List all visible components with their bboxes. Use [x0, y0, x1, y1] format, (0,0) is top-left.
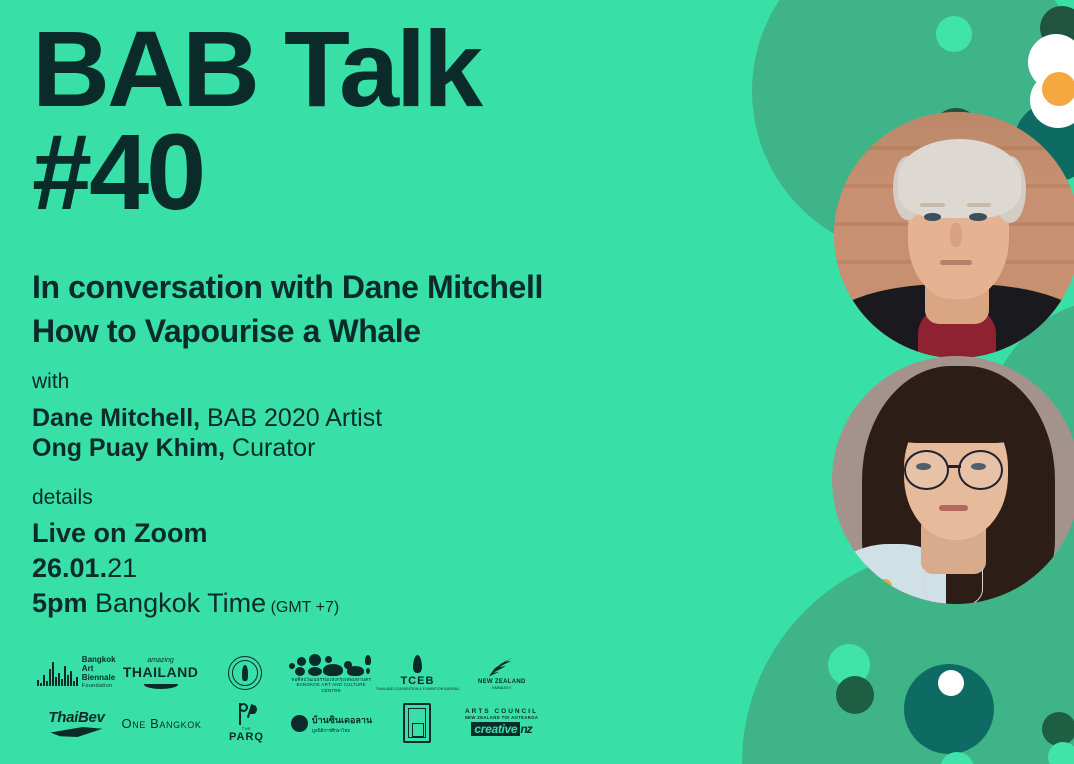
portrait-floral-motif — [877, 579, 892, 594]
decorative-circle-orange — [1042, 72, 1074, 106]
subtitle-line-2: How to Vapourise a Whale — [32, 309, 543, 353]
silver-fern-icon — [489, 657, 515, 677]
sponsor-logos: Bangkok Art Biennale Foundation amazing … — [34, 648, 544, 748]
circular-mark-icon — [291, 715, 308, 732]
logo-line: ARTS COUNCIL — [465, 708, 539, 715]
logo-line: BANGKOK ART AND CULTURE CENTRE — [287, 682, 375, 693]
logo-bangkok-art-and-culture-centre: หอศิลปวัฒนธรรมแห่งกรุงเทพมหานคร BANGKOK … — [287, 649, 375, 697]
logo-line: creative — [471, 722, 520, 736]
speaker-name: Ong Puay Khim, — [32, 434, 225, 462]
decorative-circle-darkgreen-corner-bottom — [1042, 712, 1074, 746]
logo-line: PARQ — [229, 731, 264, 743]
wave-icon — [50, 727, 102, 737]
logo-new-zealand-embassy: NEW ZEALAND EMBASSY — [460, 649, 544, 697]
page-title: BAB Talk #40 — [32, 18, 480, 223]
decorative-circle-mint-corner-bottom — [1048, 742, 1074, 764]
logo-baan-somdej-thai: บ้านซินเดอลาน มูลนิธิการศึกษาไทย — [289, 699, 374, 747]
detail-date-day-month: 26.01. — [32, 553, 107, 583]
portrait-hair-top — [898, 139, 1021, 218]
portrait-mouth — [939, 505, 969, 511]
detail-time: 5pm Bangkok Time (GMT +7) — [32, 586, 339, 621]
decorative-circle-darkgreen-bottom — [836, 676, 874, 714]
portrait-ong-puay-khim — [832, 356, 1074, 604]
portrait-necklace — [924, 569, 984, 604]
thai-door-icon — [403, 703, 431, 743]
portrait-eyebrow-right — [967, 203, 992, 207]
logo-line: THAILAND CONVENTION & EXHIBITION BUREAU — [376, 687, 459, 692]
logo-the-parq: THE PARQ — [204, 699, 289, 747]
bacc-dots-icon — [287, 653, 375, 677]
details-label: details — [32, 486, 93, 510]
logo-seal-emblem — [203, 649, 287, 697]
logo-bangkok-art-biennale-foundation: Bangkok Art Biennale Foundation — [34, 649, 118, 697]
logo-line: amazing — [123, 657, 199, 664]
logo-line: One Bangkok — [121, 716, 201, 731]
portrait-dane-mitchell — [834, 112, 1074, 358]
logo-line: nz — [520, 722, 531, 736]
parq-leaf-icon — [237, 703, 257, 725]
portrait-eye-right — [969, 213, 986, 221]
speaker-role: Curator — [225, 434, 315, 462]
logo-one-bangkok: One Bangkok — [119, 699, 204, 747]
logo-line: มูลนิธิการศึกษาไทย — [312, 727, 372, 734]
logo-thai-door-motif — [374, 699, 459, 747]
logo-creative-nz-arts-council: ARTS COUNCIL NEW ZEALAND TOI AOTEAROA cr… — [459, 699, 544, 747]
logo-thaibev: ThaiBev — [34, 699, 119, 747]
poster-subtitle: In conversation with Dane Mitchell How t… — [32, 265, 543, 353]
glasses-lens-left — [904, 450, 949, 490]
sponsor-logo-row-1: Bangkok Art Biennale Foundation amazing … — [34, 648, 544, 698]
logo-line: Foundation — [82, 683, 116, 689]
portrait-mouth — [940, 260, 972, 265]
details-block: Live on Zoom 26.01.21 5pm Bangkok Time (… — [32, 516, 339, 621]
bab-talk-poster: BAB Talk #40 In conversation with Dane M… — [0, 0, 1074, 764]
portrait-hair-fringe — [894, 388, 1018, 443]
logo-tceb: TCEB THAILAND CONVENTION & EXHIBITION BU… — [375, 649, 459, 697]
speakers-list: Dane Mitchell, BAB 2020 Artist Ong Puay … — [32, 403, 382, 463]
flame-icon — [413, 655, 422, 673]
detail-date: 26.01.21 — [32, 551, 339, 586]
detail-timezone-offset: (GMT +7) — [266, 599, 339, 616]
glasses-lens-right — [958, 450, 1003, 490]
glasses-bridge — [947, 465, 961, 468]
speaker-role: BAB 2020 Artist — [200, 404, 382, 432]
detail-timezone: Bangkok Time — [88, 588, 267, 618]
portrait-eyebrow-left — [920, 203, 945, 207]
decorative-circle-white-bottom — [938, 670, 964, 696]
logo-line: บ้านซินเดอลาน — [312, 713, 372, 727]
portrait-floral-motif — [852, 564, 869, 581]
logo-line: TCEB — [376, 675, 459, 687]
sponsor-logo-row-2: ThaiBev One Bangkok THE PARQ — [34, 698, 544, 748]
decorative-circle-mint-top — [936, 16, 972, 52]
bangkok-skyline-icon — [37, 660, 78, 686]
logo-line: EMBASSY — [478, 685, 526, 690]
speaker-row: Dane Mitchell, BAB 2020 Artist — [32, 403, 382, 433]
detail-date-year: 21 — [107, 553, 137, 583]
detail-platform: Live on Zoom — [32, 516, 339, 551]
logo-line: ThaiBev — [48, 709, 104, 726]
speaker-name: Dane Mitchell, — [32, 404, 200, 432]
subtitle-line-1: In conversation with Dane Mitchell — [32, 265, 543, 309]
circular-seal-icon — [228, 656, 262, 690]
logo-line: NEW ZEALAND — [478, 679, 526, 685]
speaker-row: Ong Puay Khim, Curator — [32, 433, 382, 463]
logo-amazing-thailand: amazing THAILAND — [118, 649, 202, 697]
logo-line: THAILAND — [123, 664, 199, 680]
logo-line: Biennale — [82, 674, 116, 683]
swoosh-icon — [144, 680, 178, 689]
portrait-nose — [950, 223, 962, 248]
detail-time-value: 5pm — [32, 588, 88, 618]
with-label: with — [32, 370, 69, 394]
